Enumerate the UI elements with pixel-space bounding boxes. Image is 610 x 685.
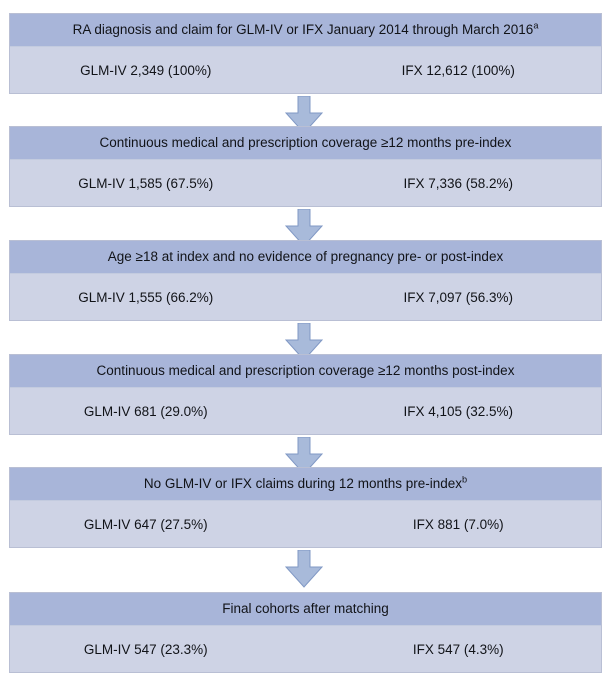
stage-1-criterion-label: RA diagnosis and claim for GLM-IV or IFX…: [10, 14, 601, 47]
stage-5-ifx-count: IFX 881 (7.0%): [306, 517, 602, 532]
stage-5-criterion-text: No GLM-IV or IFX claims during 12 months…: [144, 476, 462, 491]
stage-1-glmiv-count: GLM-IV 2,349 (100%): [10, 63, 306, 78]
stage-3-criterion-text: Age ≥18 at index and no evidence of preg…: [108, 249, 503, 264]
flow-stage-2: Continuous medical and prescription cove…: [9, 126, 602, 207]
attrition-flowchart: RA diagnosis and claim for GLM-IV or IFX…: [0, 0, 610, 685]
flow-stage-3: Age ≥18 at index and no evidence of preg…: [9, 240, 602, 321]
stage-1-footnote-marker: a: [533, 21, 538, 31]
stage-4-counts: GLM-IV 681 (29.0%) IFX 4,105 (32.5%): [10, 388, 601, 434]
stage-3-counts: GLM-IV 1,555 (66.2%) IFX 7,097 (56.3%): [10, 274, 601, 320]
stage-6-criterion-label: Final cohorts after matching: [10, 593, 601, 626]
stage-2-glmiv-count: GLM-IV 1,585 (67.5%): [10, 176, 306, 191]
stage-3-ifx-count: IFX 7,097 (56.3%): [306, 290, 602, 305]
stage-6-counts: GLM-IV 547 (23.3%) IFX 547 (4.3%): [10, 626, 601, 672]
flow-stage-1: RA diagnosis and claim for GLM-IV or IFX…: [9, 13, 602, 94]
stage-1-criterion-text: RA diagnosis and claim for GLM-IV or IFX…: [73, 22, 534, 37]
stage-2-ifx-count: IFX 7,336 (58.2%): [306, 176, 602, 191]
stage-3-criterion-label: Age ≥18 at index and no evidence of preg…: [10, 241, 601, 274]
stage-5-criterion-label: No GLM-IV or IFX claims during 12 months…: [10, 468, 601, 501]
stage-1-ifx-count: IFX 12,612 (100%): [306, 63, 602, 78]
stage-6-glmiv-count: GLM-IV 547 (23.3%): [10, 642, 306, 657]
stage-6-criterion-text: Final cohorts after matching: [222, 601, 389, 616]
flow-stage-6: Final cohorts after matching GLM-IV 547 …: [9, 592, 602, 673]
stage-2-criterion-text: Continuous medical and prescription cove…: [100, 135, 512, 150]
stage-4-glmiv-count: GLM-IV 681 (29.0%): [10, 404, 306, 419]
stage-4-criterion-text: Continuous medical and prescription cove…: [97, 363, 515, 378]
stage-5-counts: GLM-IV 647 (27.5%) IFX 881 (7.0%): [10, 501, 601, 547]
stage-2-counts: GLM-IV 1,585 (67.5%) IFX 7,336 (58.2%): [10, 160, 601, 206]
stage-5-footnote-marker: b: [462, 475, 467, 485]
stage-5-glmiv-count: GLM-IV 647 (27.5%): [10, 517, 306, 532]
stage-4-criterion-label: Continuous medical and prescription cove…: [10, 355, 601, 388]
stage-4-ifx-count: IFX 4,105 (32.5%): [306, 404, 602, 419]
down-arrow-icon-5: [285, 550, 323, 588]
stage-6-ifx-count: IFX 547 (4.3%): [306, 642, 602, 657]
stage-3-glmiv-count: GLM-IV 1,555 (66.2%): [10, 290, 306, 305]
flow-stage-4: Continuous medical and prescription cove…: [9, 354, 602, 435]
stage-2-criterion-label: Continuous medical and prescription cove…: [10, 127, 601, 160]
flow-stage-5: No GLM-IV or IFX claims during 12 months…: [9, 467, 602, 548]
stage-1-counts: GLM-IV 2,349 (100%) IFX 12,612 (100%): [10, 47, 601, 93]
